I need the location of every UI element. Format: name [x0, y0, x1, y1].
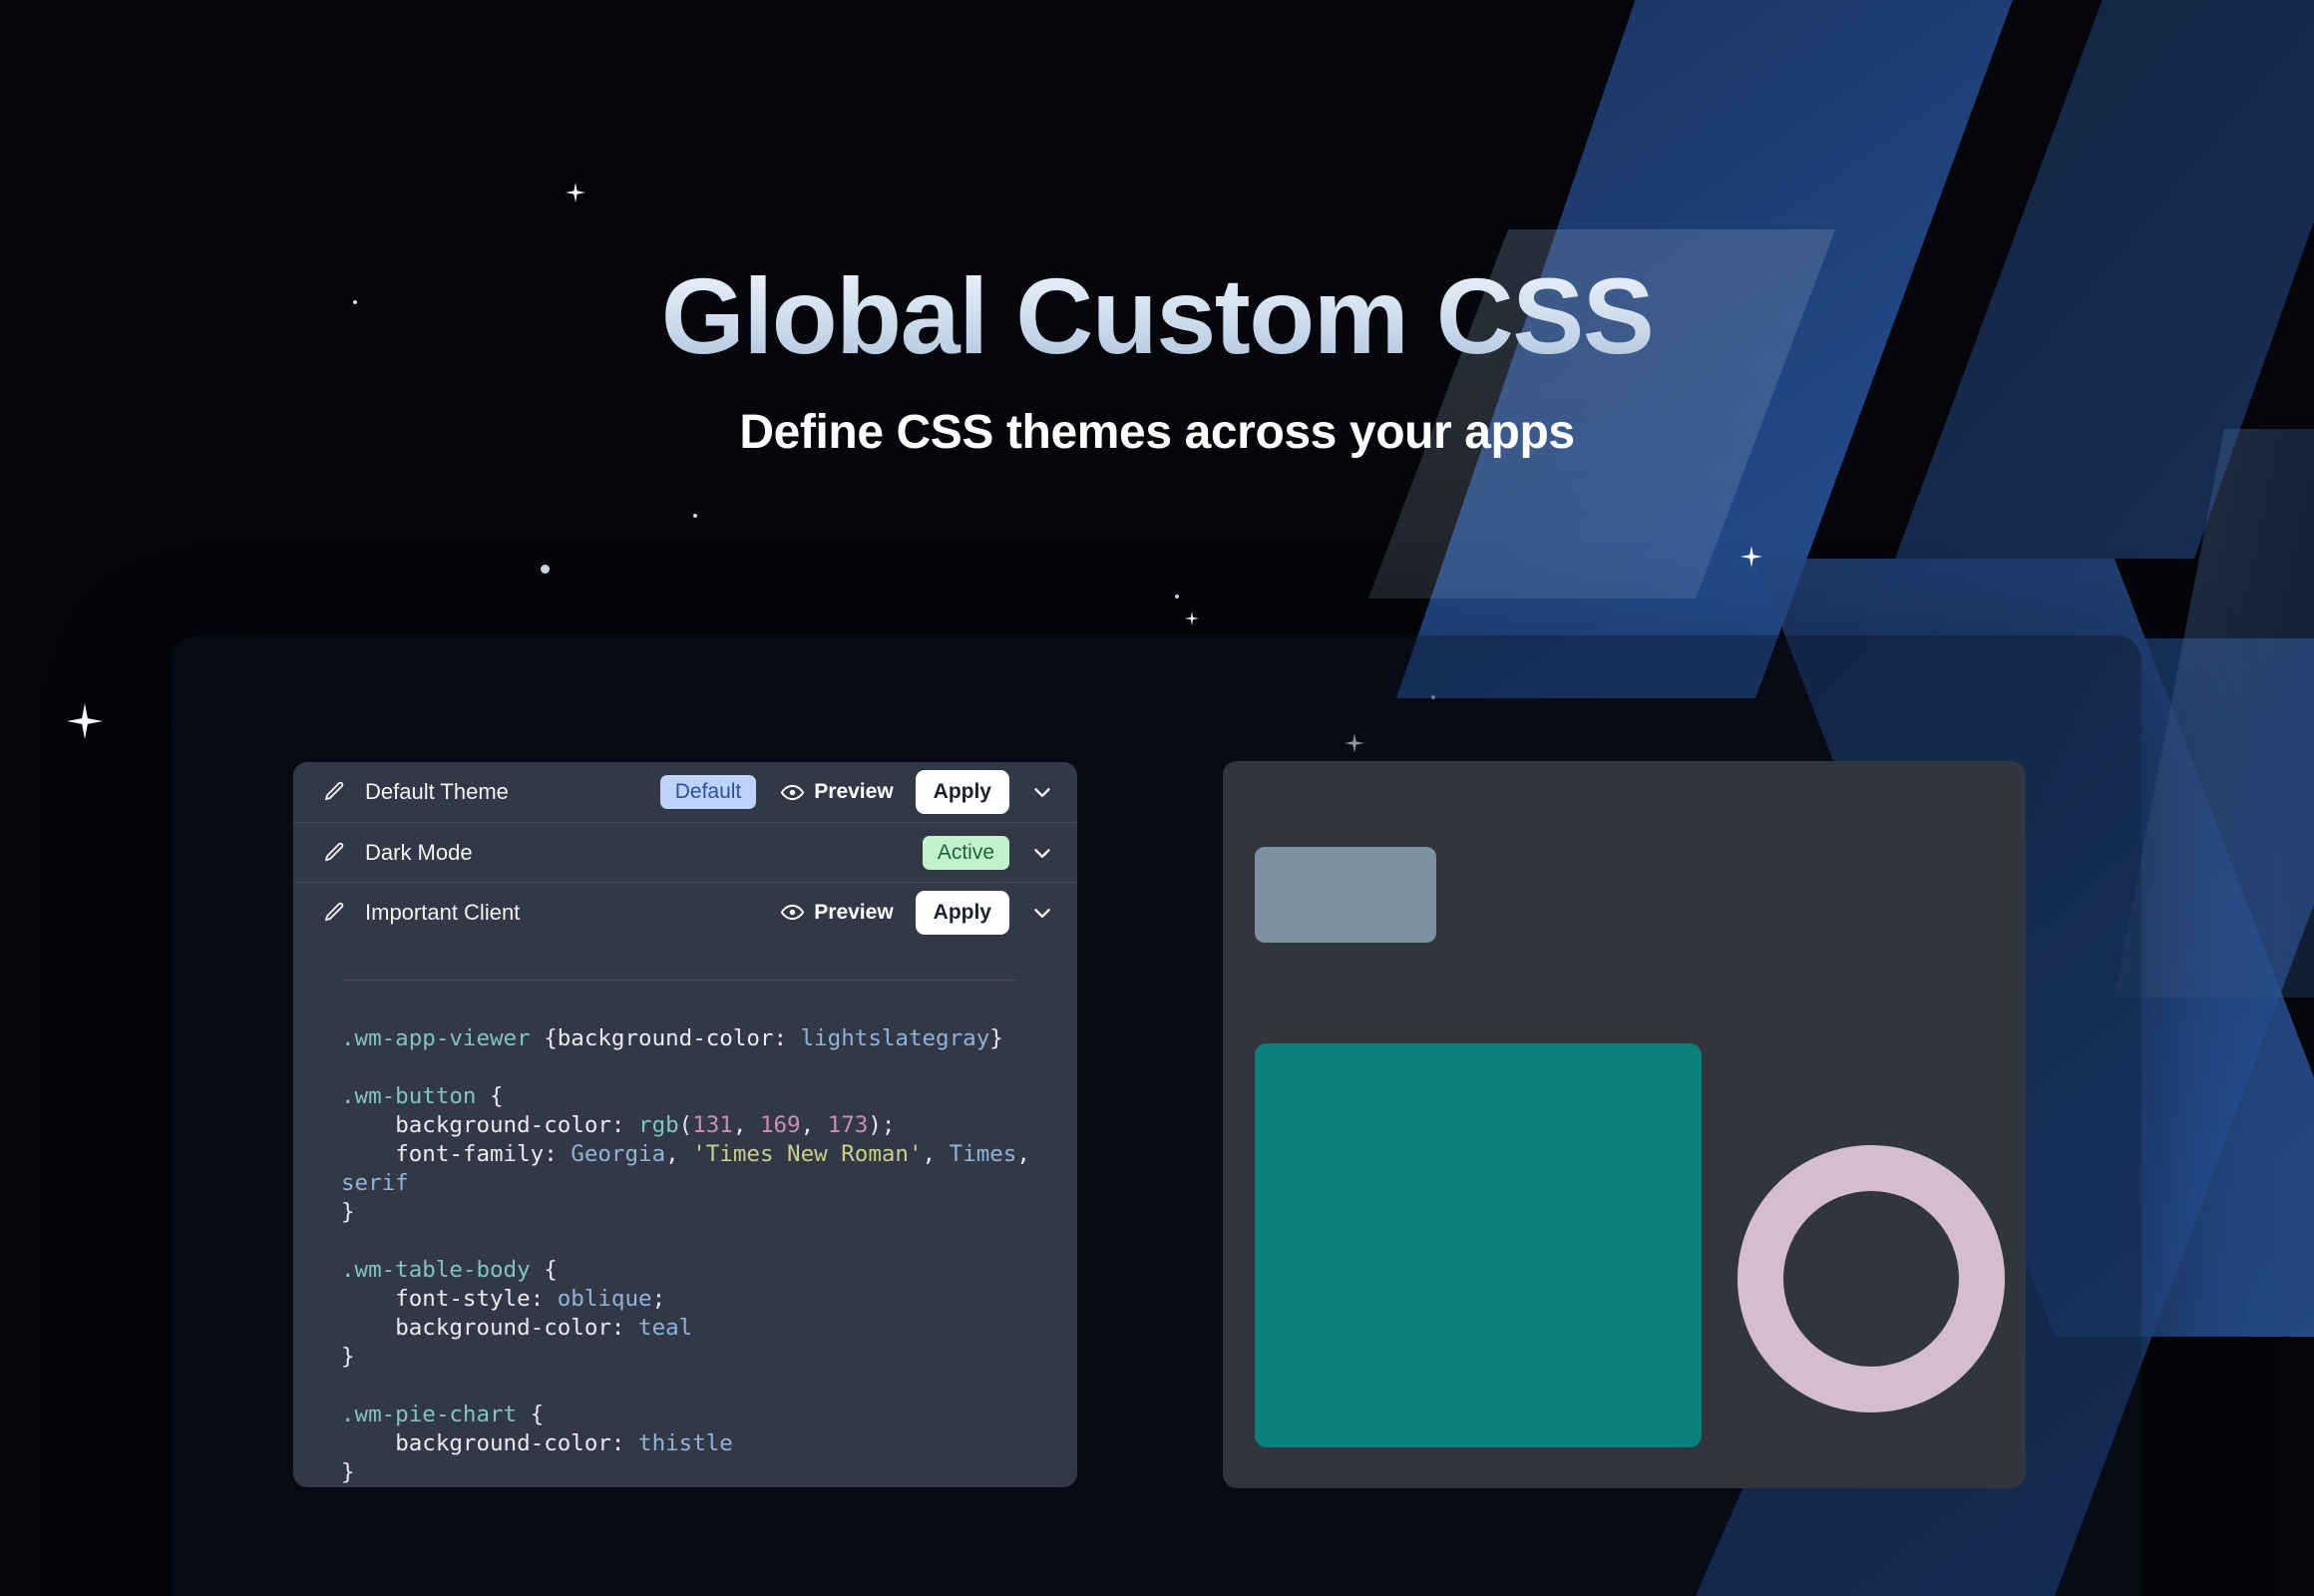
code-token: , — [801, 1112, 828, 1138]
chevron-down-icon[interactable] — [1029, 779, 1055, 805]
theme-row[interactable]: Dark ModeActive — [293, 822, 1077, 882]
theme-list: Default ThemeDefaultPreviewApplyDark Mod… — [293, 762, 1077, 942]
preview-button[interactable]: Preview — [780, 900, 893, 925]
pencil-icon[interactable] — [321, 900, 347, 926]
code-token: } — [989, 1025, 1003, 1051]
theme-manager-panel: Default ThemeDefaultPreviewApplyDark Mod… — [293, 762, 1077, 1487]
code-token: font-family: — [341, 1141, 571, 1167]
code-token: background-color: — [558, 1025, 801, 1051]
code-token: 131 — [692, 1112, 733, 1138]
code-token: teal — [638, 1315, 692, 1341]
code-token: ; — [652, 1286, 666, 1312]
code-token: background-color: — [341, 1430, 638, 1456]
code-token: 'Times New Roman' — [692, 1141, 922, 1167]
star-dot — [1175, 595, 1179, 598]
code-token: .wm-pie-chart — [341, 1401, 531, 1427]
theme-name-label: Dark Mode — [365, 840, 473, 866]
code-token: font-style: — [341, 1286, 558, 1312]
css-code-editor[interactable]: .wm-app-viewer {background-color: lights… — [293, 1024, 1077, 1487]
page-root: Global Custom CSS Define CSS themes acro… — [0, 0, 2314, 1596]
code-token: } — [341, 1199, 355, 1225]
theme-name-label: Important Client — [365, 900, 520, 926]
code-token: thistle — [638, 1430, 733, 1456]
eye-icon — [780, 900, 805, 925]
pencil-icon[interactable] — [321, 779, 347, 805]
code-token: rgb — [638, 1112, 679, 1138]
code-token: ( — [679, 1112, 693, 1138]
apply-button[interactable]: Apply — [916, 891, 1009, 935]
theme-name-label: Default Theme — [365, 779, 509, 805]
code-token: background-color: — [341, 1112, 638, 1138]
apply-button[interactable]: Apply — [916, 770, 1009, 814]
code-token: , — [1016, 1141, 1043, 1167]
code-token: lightslategray — [801, 1025, 990, 1051]
code-token: } — [341, 1344, 355, 1370]
code-token: , — [665, 1141, 692, 1167]
code-token: .wm-button — [341, 1083, 490, 1109]
status-badge: Active — [923, 836, 1009, 870]
hero: Global Custom CSS Define CSS themes acro… — [0, 261, 2314, 460]
star-dot — [541, 565, 550, 574]
code-token: .wm-app-viewer — [341, 1025, 544, 1051]
theme-row[interactable]: Default ThemeDefaultPreviewApply — [293, 762, 1077, 822]
code-token: Georgia — [571, 1141, 665, 1167]
code-token: { — [531, 1401, 545, 1427]
theme-preview-panel — [1223, 761, 2026, 1488]
code-token: , — [923, 1141, 950, 1167]
code-token: ); — [868, 1112, 895, 1138]
preview-wm-table-body — [1255, 1043, 1702, 1447]
page-title: Global Custom CSS — [0, 261, 2314, 371]
star-dot — [693, 514, 697, 518]
eye-icon — [780, 780, 805, 805]
code-token: Times — [950, 1141, 1017, 1167]
pencil-icon[interactable] — [321, 840, 347, 866]
code-token: oblique — [558, 1286, 652, 1312]
code-token: { — [544, 1025, 558, 1051]
preview-wm-button — [1255, 847, 1436, 943]
preview-button[interactable]: Preview — [780, 780, 893, 805]
code-token: { — [490, 1083, 504, 1109]
panel-divider — [343, 980, 1017, 981]
chevron-down-icon[interactable] — [1029, 900, 1055, 926]
code-token: 173 — [828, 1112, 869, 1138]
code-token: background-color: — [341, 1315, 638, 1341]
code-token: , — [733, 1112, 760, 1138]
code-token: serif — [341, 1170, 409, 1196]
code-token: .wm-table-body — [341, 1257, 544, 1283]
status-badge: Default — [660, 775, 757, 809]
preview-wm-pie-chart — [1737, 1145, 2005, 1412]
code-token: { — [544, 1257, 558, 1283]
preview-button-label: Preview — [814, 780, 893, 804]
theme-row[interactable]: Important ClientPreviewApply — [293, 882, 1077, 942]
code-token: } — [341, 1459, 355, 1485]
chevron-down-icon[interactable] — [1029, 840, 1055, 866]
preview-button-label: Preview — [814, 901, 893, 925]
page-subtitle: Define CSS themes across your apps — [0, 405, 2314, 460]
code-token: 169 — [760, 1112, 801, 1138]
